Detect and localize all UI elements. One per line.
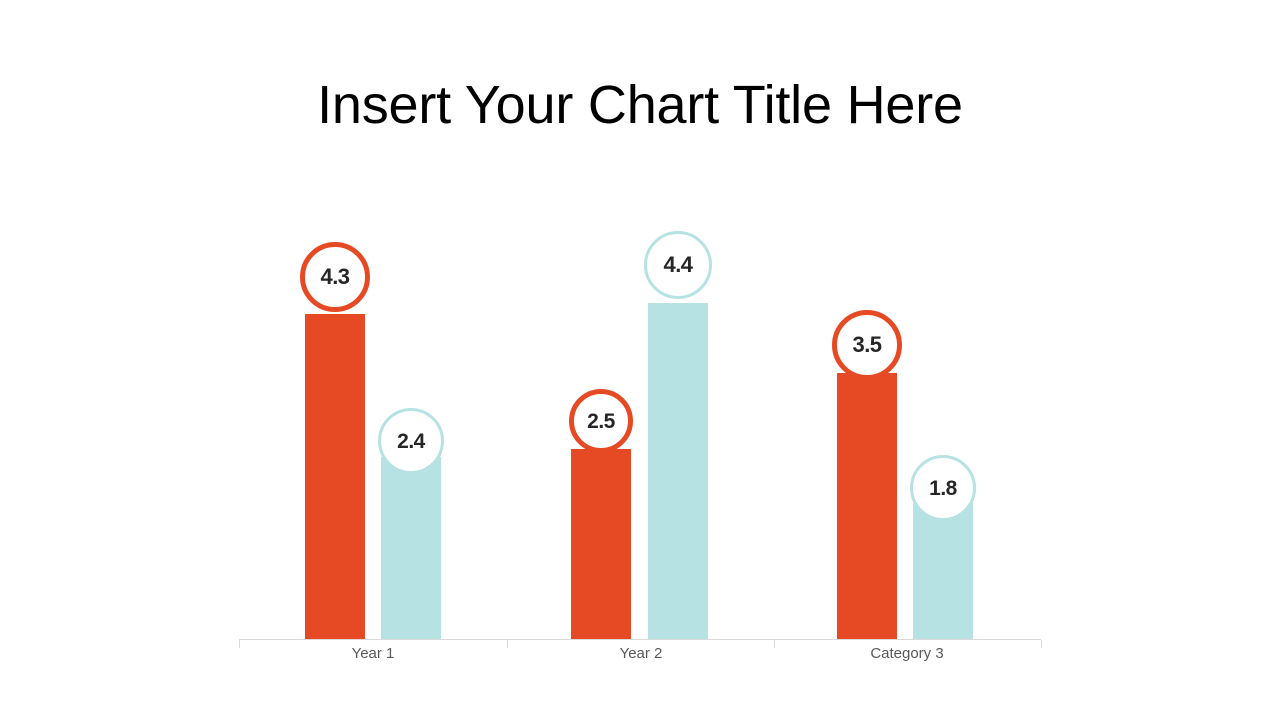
page-title: Insert Your Chart Title Here	[0, 72, 1280, 138]
bar-category3-series-b-value-bubble: 1.8	[910, 455, 976, 521]
x-axis-tick-1	[507, 640, 508, 648]
bar-category3-series-a-value-label: 3.5	[852, 334, 881, 356]
bar-category3-series-b-value-label: 1.8	[929, 478, 957, 499]
bar-year2-series-a-value-bubble: 2.5	[569, 389, 633, 453]
category-label-2: Year 2	[541, 645, 741, 662]
bar-year1-series-b[interactable]	[381, 457, 441, 639]
bar-year1-series-a-value-label: 4.3	[320, 266, 349, 288]
bar-category3-series-a[interactable]	[837, 373, 897, 639]
bar-category3-series-a-value-bubble: 3.5	[832, 310, 902, 380]
bar-year1-series-b-value-bubble: 2.4	[378, 408, 444, 474]
bar-year1-series-b-value-label: 2.4	[397, 431, 425, 452]
bar-year2-series-b[interactable]	[648, 303, 708, 639]
bar-year2-series-b-value-label: 4.4	[663, 254, 692, 276]
x-axis-line	[239, 639, 1041, 640]
bar-category3-series-b[interactable]	[913, 503, 973, 639]
category-label-3: Category 3	[807, 645, 1007, 662]
category-label-1: Year 1	[273, 645, 473, 662]
bar-year2-series-b-value-bubble: 4.4	[644, 231, 712, 299]
slide-canvas: Insert Your Chart Title Here 4.32.42.54.…	[0, 0, 1280, 720]
x-axis-tick-3	[1041, 640, 1042, 648]
bar-year1-series-a[interactable]	[305, 314, 365, 639]
x-axis-tick-0	[239, 640, 240, 648]
bar-year1-series-a-value-bubble: 4.3	[300, 242, 370, 312]
x-axis-tick-2	[774, 640, 775, 648]
bar-year2-series-a[interactable]	[571, 449, 631, 639]
bar-year2-series-a-value-label: 2.5	[587, 411, 615, 432]
